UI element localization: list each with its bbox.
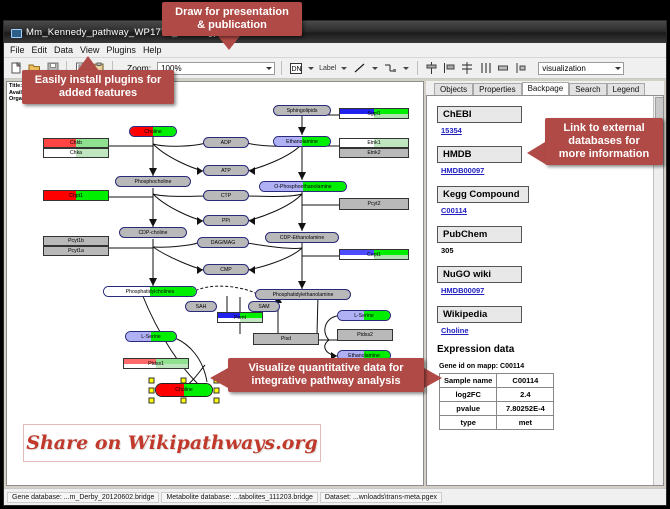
gene-chpt1[interactable]: Chpt1 <box>43 190 109 201</box>
node-label: Sgpl1 <box>367 111 380 117</box>
table-cell-key: type <box>440 416 497 430</box>
toolbar-separator-4 <box>417 61 418 75</box>
share-banner: Share on Wikipathways.org <box>23 424 321 462</box>
gene-ptdss1[interactable]: Ptdss1 <box>123 358 189 369</box>
backpage-link-wikipedia[interactable]: Choline <box>441 326 663 335</box>
node-phosphatidylethanolamine[interactable]: Phosphatidylethanolamine <box>255 289 351 300</box>
table-cell-value: 7.80252E-4 <box>497 402 554 416</box>
node-label: PPi <box>222 218 230 224</box>
table-cell-key: pvalue <box>440 402 497 416</box>
menu-item-file[interactable]: File <box>10 45 25 55</box>
node-l-serine-left[interactable]: L-Serine <box>125 331 177 342</box>
node-ethanolamine-top[interactable]: Ethanolamine <box>273 136 331 147</box>
gene-etnk2[interactable]: Etnk2 <box>339 148 409 158</box>
expression-data-title: Expression data <box>437 344 663 355</box>
gene-pemt[interactable]: Pemt <box>217 312 263 323</box>
callout-draw-line2: & publication <box>197 19 267 31</box>
table-cell-value: C00114 <box>497 374 554 388</box>
node-l-serine-right[interactable]: L-Serine <box>337 310 391 321</box>
node-label: CDP-choline <box>138 230 167 236</box>
node-label: ATP <box>221 168 231 174</box>
node-label: Cept1 <box>367 252 381 258</box>
callout-draw-arrow <box>218 36 240 50</box>
node-label: CMP <box>220 267 232 273</box>
backpage-header-chebi: ChEBI <box>437 106 522 123</box>
tab-properties[interactable]: Properties <box>473 83 521 95</box>
node-label: Chpt1 <box>69 193 83 199</box>
svg-text:DN: DN <box>291 66 301 73</box>
node-label: Phosphocholine <box>135 179 172 185</box>
menu-item-help[interactable]: Help <box>143 45 162 55</box>
pathway-canvas[interactable]: Title: Availa Organ <box>6 81 424 486</box>
distribute-vertical-icon[interactable] <box>460 61 475 76</box>
group-icon[interactable] <box>496 61 511 76</box>
status-metabolite-database: Metabolite database: ...tabolites_111203… <box>161 492 317 503</box>
node-ppi[interactable]: PPi <box>203 215 249 226</box>
node-atp[interactable]: ATP <box>203 165 249 176</box>
node-o-phosphoethanolamine[interactable]: O-Phosphoethanolamine <box>259 181 347 192</box>
callout-visualize-arrow-left <box>210 368 228 388</box>
ungroup-icon[interactable] <box>514 61 529 76</box>
node-label: CDP-Ethanolamine <box>280 235 324 241</box>
callout-plugins: Easily install plugins for added feature… <box>22 70 174 104</box>
node-label: Ethanolamine <box>286 139 318 145</box>
tab-legend[interactable]: Legend <box>607 83 646 95</box>
zoom-combobox[interactable]: 100% <box>157 62 275 75</box>
backpage-value-pubchem: 305 <box>441 246 663 255</box>
line-dropdown-icon[interactable] <box>372 67 378 70</box>
share-text: Share on Wikipathways.org <box>26 432 317 454</box>
node-cdp-choline[interactable]: CDP-choline <box>119 227 187 238</box>
status-gene-database: Gene database: ...m_Derby_20120602.bridg… <box>7 492 159 503</box>
callout-visualize-arrow-right <box>424 368 442 388</box>
callout-link: Link to external databases for more info… <box>545 118 663 165</box>
callout-plugins-line2: added features <box>59 87 137 99</box>
node-label: L-Serine <box>354 313 374 319</box>
gene-pcyt2[interactable]: Pcyt2 <box>339 198 409 210</box>
menu-item-plugins[interactable]: Plugins <box>106 45 136 55</box>
node-label: SAM <box>258 304 269 310</box>
label-dropdown-icon[interactable] <box>341 67 347 70</box>
callout-link-arrow <box>527 142 545 164</box>
node-label: Chka <box>70 150 82 156</box>
gene-cept1[interactable]: Cept1 <box>339 249 409 260</box>
chevron-down-icon <box>266 67 272 70</box>
callout-link-line3: more information <box>559 148 649 160</box>
callout-plugins-line1: Easily install plugins for <box>35 74 162 86</box>
node-label: Choline <box>175 387 193 393</box>
callout-plugins-arrow <box>77 56 99 71</box>
node-label: Etnk1 <box>367 140 380 146</box>
table-cell-key: log2FC <box>440 388 497 402</box>
callout-visualize-line1: Visualize quantitative data for <box>248 362 403 374</box>
node-phosphocholine[interactable]: Phosphocholine <box>115 176 191 187</box>
table-row: Sample name C00114 <box>440 374 554 388</box>
gene-pcyt1a[interactable]: Pcyt1a <box>43 246 109 256</box>
node-label: Phosphatidylethanolamine <box>273 292 334 298</box>
status-dataset: Dataset: ...wnloads\trans-meta.pgex <box>320 492 442 503</box>
expression-table: Sample name C00114 log2FC 2.4 pvalue 7.8… <box>439 373 554 430</box>
datanode-icon[interactable]: DN <box>288 61 303 76</box>
node-label: Pemt <box>234 315 246 321</box>
side-panel-tabs: Objects Properties Backpage Search Legen… <box>426 81 664 95</box>
backpage-header-pubchem: PubChem <box>437 226 522 243</box>
table-cell-key: Sample name <box>440 374 497 388</box>
node-label: Etnk2 <box>367 150 380 156</box>
node-label: O-Phosphoethanolamine <box>274 184 331 190</box>
node-label: ADP <box>221 140 232 146</box>
label-tool-label[interactable]: Label <box>319 65 336 72</box>
node-sah[interactable]: SAH <box>185 301 217 312</box>
align-left-icon[interactable] <box>442 61 457 76</box>
callout-link-line2: databases for <box>568 135 640 147</box>
table-cell-value: met <box>497 416 554 430</box>
backpage-header-nugo: NuGO wiki <box>437 266 522 283</box>
node-phosphatidylcholines[interactable]: Phosphatidylcholines <box>103 286 197 297</box>
gene-id-line: Gene id on mapp: C00114 <box>439 363 663 370</box>
visualization-value: visualization <box>542 64 586 73</box>
tab-objects[interactable]: Objects <box>434 83 473 95</box>
backpage-link-nugo[interactable]: HMDB00097 <box>441 286 663 295</box>
tab-backpage[interactable]: Backpage <box>522 82 570 95</box>
node-label: Choline <box>144 129 162 135</box>
gene-pisd[interactable]: Pisd <box>253 333 319 345</box>
callout-visualize-line2: integrative pathway analysis <box>251 375 400 387</box>
node-label: Phosphatidylcholines <box>126 289 175 295</box>
tab-search[interactable]: Search <box>569 83 606 95</box>
gene-pcyt1b[interactable]: Pcyt1b <box>43 236 109 246</box>
node-ctp[interactable]: CTP <box>203 190 249 201</box>
node-label: Pisd <box>281 336 291 342</box>
node-label: Pcyt2 <box>368 201 381 207</box>
node-sphingolipids[interactable]: Sphingolipids <box>273 105 331 116</box>
gene-etnk1[interactable]: Etnk1 <box>339 138 409 148</box>
menu-item-edit[interactable]: Edit <box>32 45 48 55</box>
menu-bar: File Edit Data View Plugins Help <box>4 43 666 58</box>
node-label: DAG/MAG <box>211 240 236 246</box>
callout-visualize: Visualize quantitative data for integrat… <box>228 358 424 392</box>
visualization-combobox[interactable]: visualization <box>538 62 624 75</box>
backpage-header-hmdb: HMDB <box>437 146 522 163</box>
app-window-icon <box>10 27 21 38</box>
node-dag-mag[interactable]: DAG/MAG <box>197 237 249 248</box>
gene-chka[interactable]: Chka <box>43 148 109 158</box>
toolbar-separator-3 <box>281 61 282 75</box>
menu-item-data[interactable]: Data <box>54 45 73 55</box>
screenshot-root: Mm_Kennedy_pathway_WP1771_45176.gpml Fil… <box>0 0 670 509</box>
node-label: Ptdss1 <box>148 361 164 367</box>
backpage-header-kegg: Kegg Compound <box>437 186 529 203</box>
gene-sgpl1[interactable]: Sgpl1 <box>339 108 409 119</box>
node-cmp[interactable]: CMP <box>203 264 249 275</box>
backpage-link-kegg[interactable]: C00114 <box>441 206 663 215</box>
node-label: Ptdss2 <box>357 332 373 338</box>
node-adp[interactable]: ADP <box>203 137 249 148</box>
line-tool-icon[interactable] <box>352 61 367 76</box>
node-label: L-Serine <box>141 334 161 340</box>
datanode-dropdown-icon[interactable] <box>308 67 314 70</box>
node-label: Pcyt1a <box>68 248 84 254</box>
node-cdp-ethanolamine[interactable]: CDP-Ethanolamine <box>265 232 339 243</box>
callout-draw-line1: Draw for presentation <box>175 6 289 18</box>
menu-item-view[interactable]: View <box>80 45 99 55</box>
node-label: Sphingolipids <box>287 108 318 114</box>
node-label: Chkb <box>70 140 82 146</box>
gene-ptdss2[interactable]: Ptdss2 <box>337 329 393 341</box>
shape-dropdown-icon[interactable] <box>403 67 409 70</box>
distribute-horizontal-icon[interactable] <box>478 61 493 76</box>
table-row: log2FC 2.4 <box>440 388 554 402</box>
backpage-link-hmdb[interactable]: HMDB00097 <box>441 166 663 175</box>
node-sam[interactable]: SAM <box>248 301 280 312</box>
node-label: SAH <box>196 304 207 310</box>
node-label: Pcyt1b <box>68 238 84 244</box>
table-cell-value: 2.4 <box>497 388 554 402</box>
title-bar: Mm_Kennedy_pathway_WP1771_45176.gpml <box>4 21 666 43</box>
gene-chkb[interactable]: Chkb <box>43 138 109 148</box>
status-bar: Gene database: ...m_Derby_20120602.bridg… <box>4 488 666 505</box>
node-choline-top[interactable]: Choline <box>129 126 177 137</box>
table-row: type met <box>440 416 554 430</box>
chevron-down-icon-2 <box>615 67 621 70</box>
backpage-header-wikipedia: Wikipedia <box>437 306 522 323</box>
shape-tool-icon[interactable] <box>383 61 398 76</box>
align-center-icon[interactable] <box>424 61 439 76</box>
callout-draw: Draw for presentation & publication <box>162 2 302 36</box>
table-row: pvalue 7.80252E-4 <box>440 402 554 416</box>
node-label: CTP <box>221 193 231 199</box>
callout-link-line1: Link to external <box>563 122 644 134</box>
